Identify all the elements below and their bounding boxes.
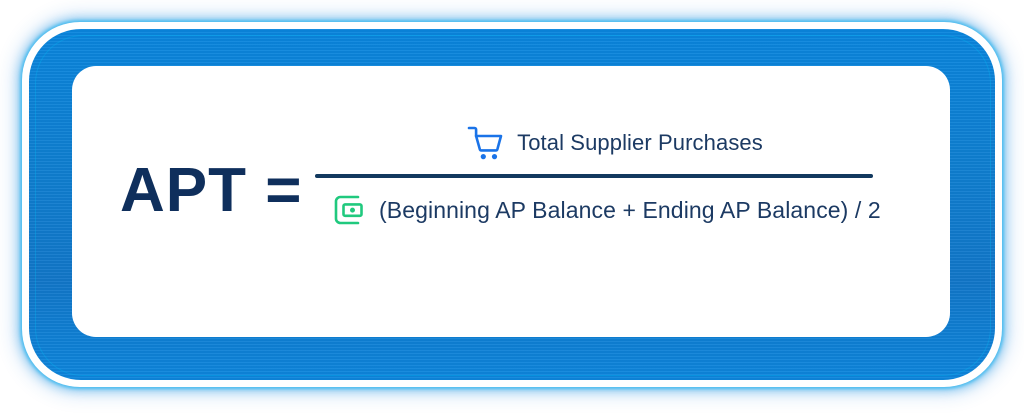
formula-container: APT = Total Supplier Purchases	[72, 66, 950, 337]
fraction-denominator: (Beginning AP Balance + Ending AP Balanc…	[315, 182, 915, 238]
wallet-icon	[333, 194, 367, 226]
fraction-bar	[315, 174, 873, 178]
formula-canvas: APT = Total Supplier Purchases	[0, 0, 1024, 418]
shopping-cart-icon	[467, 125, 505, 161]
denominator-label: (Beginning AP Balance + Ending AP Balanc…	[379, 197, 881, 224]
metric-label: APT =	[120, 160, 302, 222]
numerator-label: Total Supplier Purchases	[517, 130, 763, 156]
fraction-numerator: Total Supplier Purchases	[315, 116, 915, 170]
fraction: Total Supplier Purchases (Beginning AP B…	[315, 116, 915, 238]
